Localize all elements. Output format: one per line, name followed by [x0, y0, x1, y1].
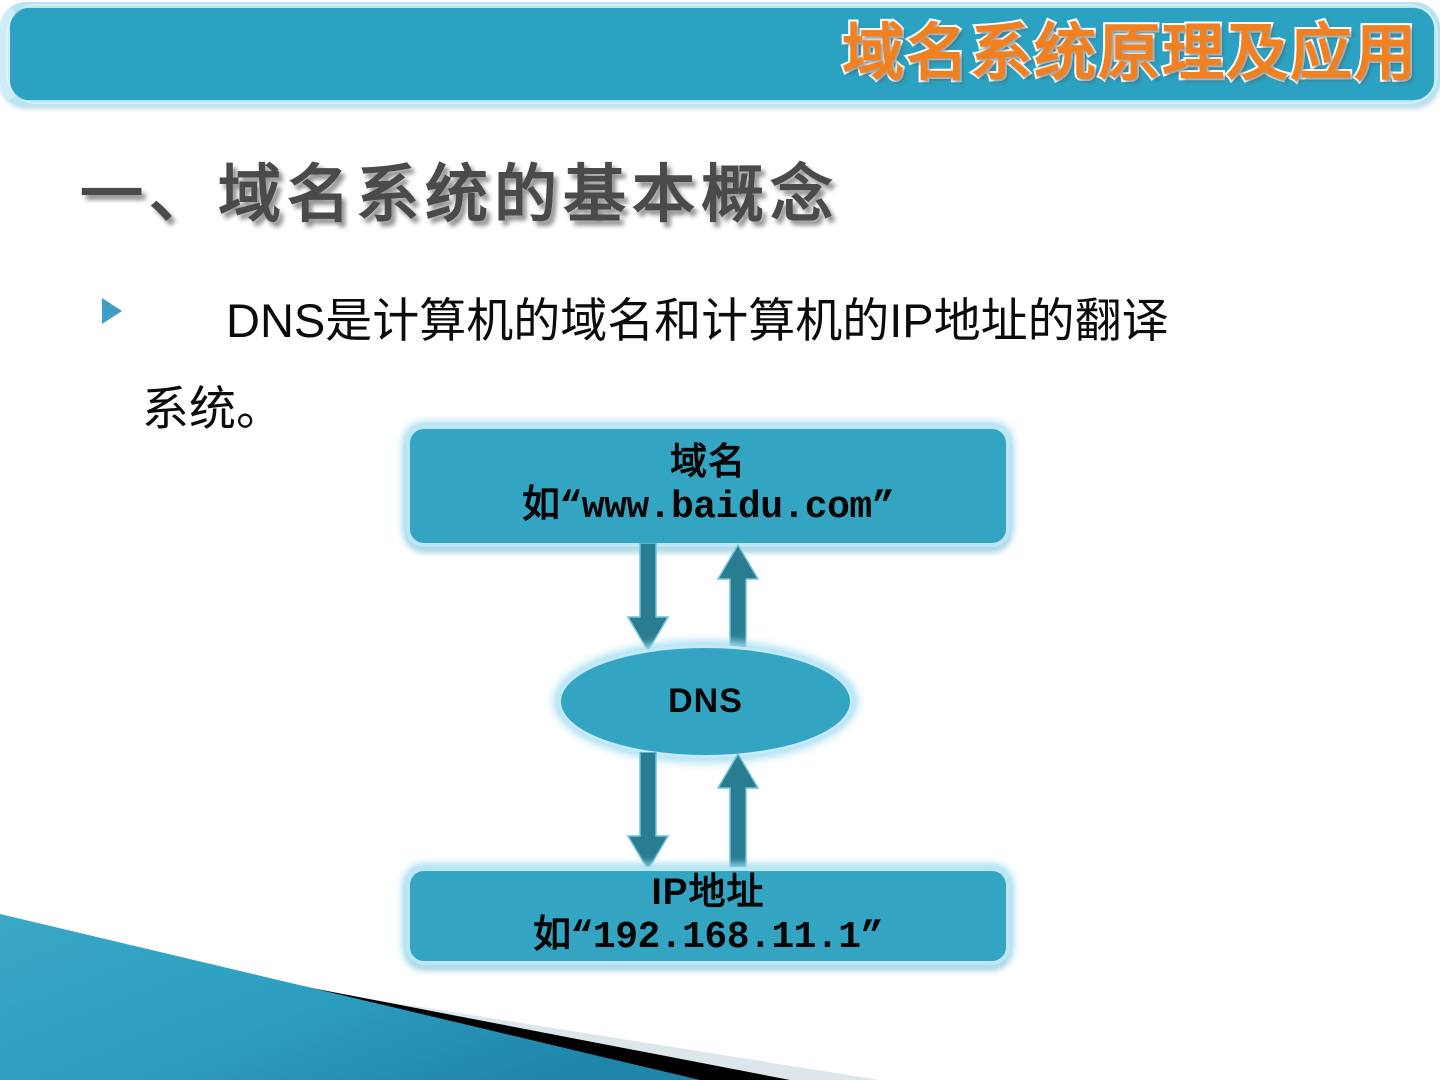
section-heading: 一、域名系统的基本概念 — [80, 144, 839, 235]
header-banner: 域名系统原理及应用 — [0, 2, 1440, 106]
diagram-node-domain: 域名 如“www.baidu.com” — [406, 425, 1010, 547]
bullet-text-line-1: DNS是计算机的域名和计算机的IP地址的翻译 — [226, 282, 1169, 351]
arrow-dns-to-ip-icon — [626, 752, 670, 872]
arrow-domain-to-dns-icon — [626, 543, 670, 653]
arrow-dns-to-domain-icon — [716, 543, 760, 653]
triangle-bullet-icon — [102, 298, 122, 324]
bullet-text-line-2: 系统。 — [142, 370, 283, 439]
arrow-ip-to-dns-icon — [716, 752, 760, 872]
diagram-node-domain-title: 域名 — [670, 440, 746, 484]
diagram-node-dns-label: DNS — [668, 682, 743, 721]
diagram-node-domain-subtitle: 如“www.baidu.com” — [522, 484, 894, 532]
diagram-node-dns: DNS — [558, 645, 853, 758]
page-title: 域名系统原理及应用 — [842, 12, 1418, 96]
decoration-teal-wedge — [0, 880, 880, 1080]
slide-canvas: 域名系统原理及应用 一、域名系统的基本概念 DNS是计算机的域名和计算机的IP地… — [0, 0, 1440, 1080]
